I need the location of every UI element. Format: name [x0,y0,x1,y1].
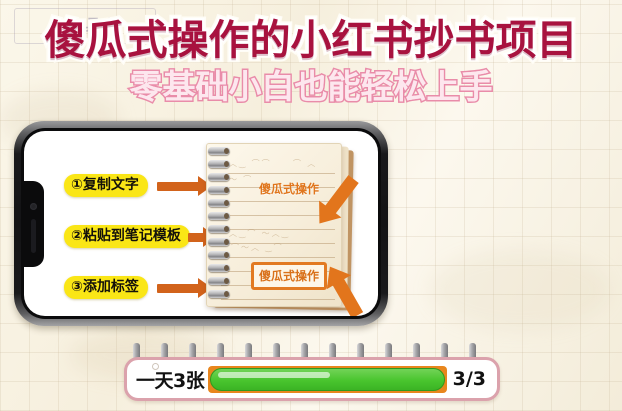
front-camera-icon [30,203,37,210]
progress-count: 3/3 [453,368,486,390]
poster-canvas: AI工具库 傻瓜式操作的小红书抄书项目 傻瓜式操作的小红书抄书项目 零基础小白也… [0,0,622,411]
spiral-ring [208,186,230,194]
spiral-ring [208,264,230,272]
page-subtitle: 零基础小白也能轻松上手 [0,60,622,108]
progress-bar-track[interactable] [208,366,446,393]
notebook-spiral-binding [206,147,232,305]
handwriting-scribble: ︿‿ ⌒⌒ [229,158,272,169]
earpiece-speaker-icon [31,219,36,253]
spiral-ring [208,160,230,168]
notebook-boxed-callout: 傻瓜式操作 [251,262,327,290]
phone-screen: ①复制文字 ②粘贴到笔记模板 ③添加标签 ︿‿ ⌒⌒ ⌒ ︿ 〜 ⌒ ︿‿⌒ 〜… [24,131,378,316]
step-copy-text[interactable]: ①复制文字 [64,174,148,197]
punch-hole [152,363,159,370]
spiral-ring [208,147,230,155]
notebook-heading-text: 傻瓜式操作 [259,180,319,197]
handwriting-scribble: ⌒〜︿ ‿⌒ [231,242,284,253]
arrow-right-icon [157,284,199,293]
phone-bezel: ①复制文字 ②粘贴到笔记模板 ③添加标签 ︿‿ ⌒⌒ ⌒ ︿ 〜 ⌒ ︿‿⌒ 〜… [21,128,381,319]
step-paste-template[interactable]: ②粘贴到笔记模板 [64,225,190,248]
progress-widget: 一天3张 3/3 [112,343,512,405]
step-add-tags[interactable]: ③添加标签 [64,276,148,299]
handwriting-scribble: 〜 ⌒ [229,174,253,185]
spiral-ring [208,238,230,246]
spiral-ring [208,290,230,298]
phone-mockup: ①复制文字 ②粘贴到笔记模板 ③添加标签 ︿‿ ⌒⌒ ⌒ ︿ 〜 ⌒ ︿‿⌒ 〜… [14,121,388,326]
arrow-right-icon [157,182,199,191]
progress-label: 一天3张 [136,366,204,393]
paper-blotch [430,250,610,330]
handwriting-scribble: ⌒ ︿ [293,158,317,169]
handwriting-scribble: ︿‿⌒ 〜︿‿ [229,228,290,239]
progress-card: 一天3张 3/3 [124,357,500,401]
arrow-right-icon [188,233,204,242]
spiral-ring [208,212,230,220]
spiral-ring [208,225,230,233]
progress-bar-gloss [218,372,330,378]
phone-notch [24,181,44,267]
spiral-ring [208,199,230,207]
spiral-ring [208,277,230,285]
page-title: 傻瓜式操作的小红书抄书项目 [0,6,622,66]
spiral-ring [208,251,230,259]
progress-bar-fill [210,368,444,391]
notebook-boxed-text: 傻瓜式操作 [259,269,319,283]
spiral-ring [208,173,230,181]
